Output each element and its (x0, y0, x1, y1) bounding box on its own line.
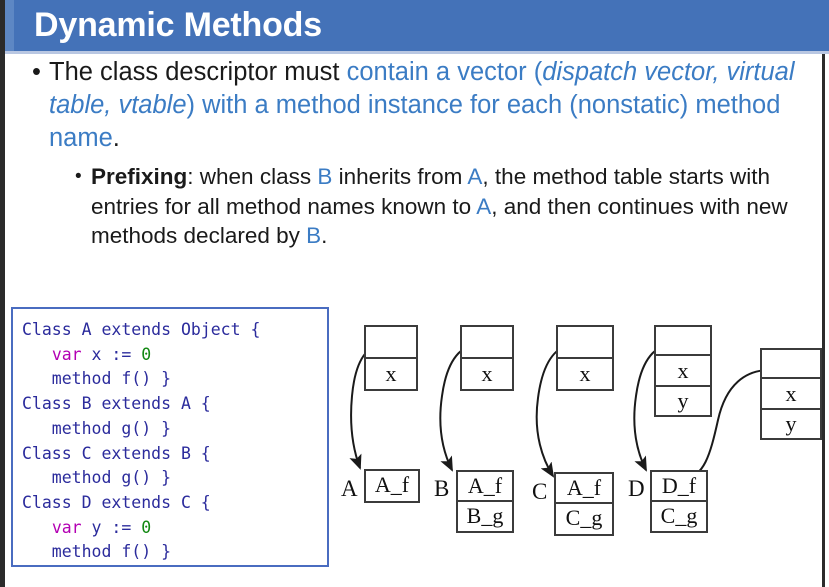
object-box-d2: x y (760, 348, 822, 440)
bullet2-t2: inherits from (332, 164, 467, 189)
page-title: Dynamic Methods (34, 2, 322, 49)
object-a-vptr-cell (366, 327, 416, 359)
title-bar-accent (5, 0, 14, 51)
vtable-a-entry-0: A_f (366, 471, 418, 501)
vtable-label-c: C (532, 477, 547, 507)
vtable-box-c: A_f C_g (554, 472, 614, 536)
object-d2-field-x: x (762, 379, 820, 410)
vtable-label-a: A (341, 474, 358, 504)
object-a-field-x: x (366, 359, 416, 391)
bullet2-class-a-1: A (467, 164, 482, 189)
bullet-marker-icon: • (32, 56, 41, 89)
code-panel: Class A extends Object { var x := 0 meth… (11, 307, 329, 567)
vtable-b-entry-0: A_f (458, 472, 512, 502)
bullet-level1: •The class descriptor must contain a vec… (5, 56, 809, 155)
object-box-c: x (556, 325, 614, 391)
bullet2-t5: . (321, 223, 327, 248)
vtable-label-b: B (434, 474, 449, 504)
bullet2-t1: : when class (187, 164, 317, 189)
vtable-c-entry-1: C_g (556, 504, 612, 534)
body-content: •The class descriptor must contain a vec… (5, 56, 822, 251)
bullet1-text-blue-1: contain a vector ( (347, 58, 543, 86)
object-d2-field-y: y (762, 410, 820, 440)
slide: Dynamic Methods •The class descriptor mu… (0, 0, 829, 587)
bullet2-class-b-1: B (317, 164, 332, 189)
sub-bullet-marker-icon: • (75, 162, 82, 192)
code-keyword-var: var (52, 345, 82, 364)
object-c-field-x: x (558, 359, 612, 391)
bullet-level2: •Prefixing: when class B inherits from A… (5, 162, 811, 251)
bullet2-class-a-2: A (476, 194, 491, 219)
object-d2-vptr-cell (762, 350, 820, 379)
vtable-d-entry-0: D_f (652, 472, 706, 502)
object-d-vptr-cell (656, 327, 710, 356)
vtable-box-b: A_f B_g (456, 470, 514, 533)
code-listing: Class A extends Object { var x := 0 meth… (13, 309, 327, 565)
title-underline (5, 51, 829, 54)
object-box-a: x (364, 325, 418, 391)
object-d-field-x: x (656, 356, 710, 387)
bullet1-text-black-2: . (113, 124, 120, 152)
object-b-vptr-cell (462, 327, 512, 359)
object-c-vptr-cell (558, 327, 612, 359)
code-keyword-var: var (52, 518, 82, 537)
object-box-b: x (460, 325, 514, 391)
object-d-field-y: y (656, 387, 710, 417)
vtable-box-d: D_f C_g (650, 470, 708, 533)
object-box-d: x y (654, 325, 712, 417)
bullet2-lead-bold: Prefixing (91, 164, 187, 189)
vtable-label-d: D (628, 474, 645, 504)
object-b-field-x: x (462, 359, 512, 391)
vtable-diagram: x x x x y x y A A_f B A_f B_g (336, 300, 826, 587)
bullet1-text-black-1: The class descriptor must (49, 58, 347, 86)
bullet2-class-b-2: B (306, 223, 321, 248)
code-literal-zero: 0 (141, 345, 151, 364)
vtable-box-a: A_f (364, 469, 420, 503)
code-literal-zero: 0 (141, 518, 151, 537)
vtable-b-entry-1: B_g (458, 502, 512, 531)
vtable-c-entry-0: A_f (556, 474, 612, 504)
vtable-d-entry-1: C_g (652, 502, 706, 531)
